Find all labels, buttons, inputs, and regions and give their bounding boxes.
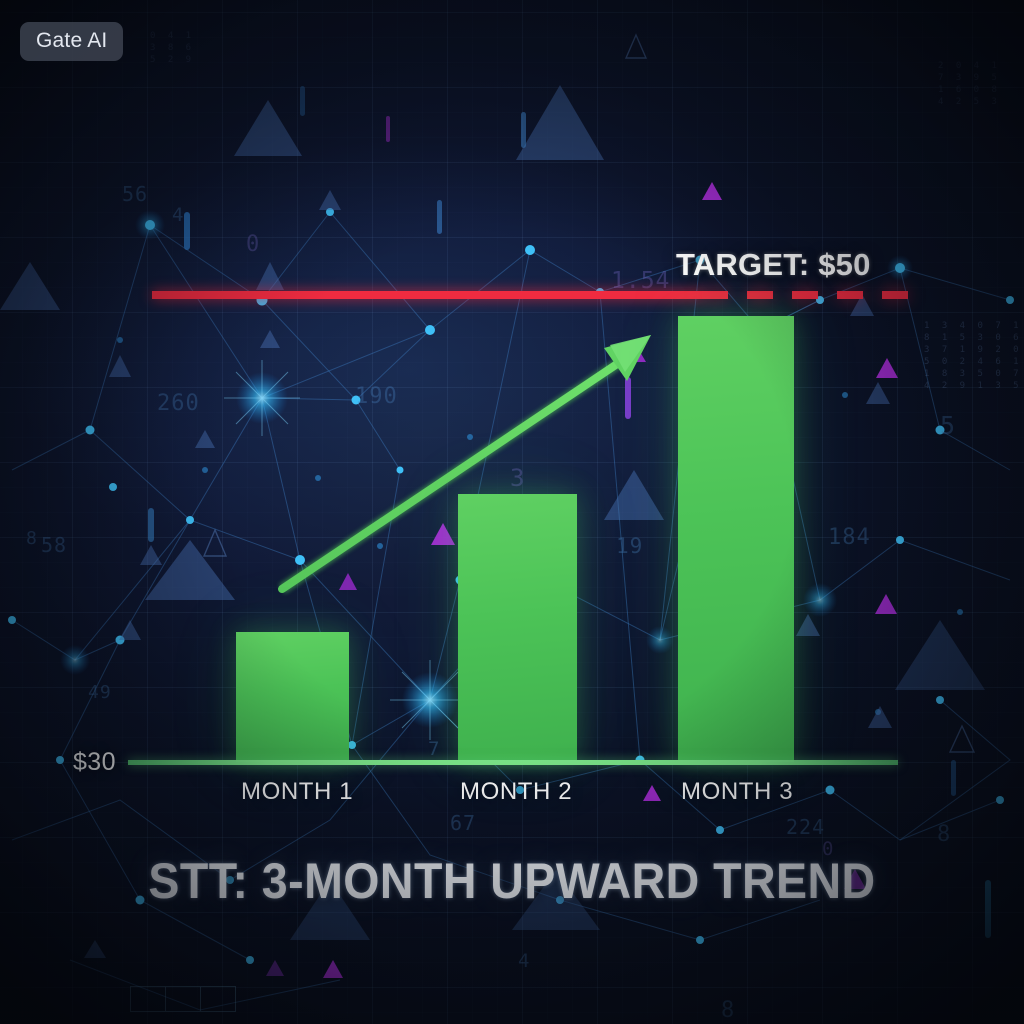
background-data-matrix-2: 2 0 4 1 7 3 9 5 1 6 0 8 4 2 5 3 — [938, 60, 1000, 108]
background-number: 4 — [172, 204, 184, 226]
background-number: 49 — [88, 682, 112, 703]
background-data-matrix-3: 0 4 1 3 8 6 5 2 9 — [150, 30, 195, 66]
bar-month-1 — [236, 632, 349, 762]
background-number: 190 — [355, 384, 398, 409]
background-data-matrix: 1 3 4 0 7 1 2 8 1 5 3 0 6 4 3 7 1 9 2 0 … — [924, 320, 1024, 392]
target-label: TARGET: $50 — [676, 247, 871, 283]
background-number: 224 — [786, 815, 825, 839]
background-number: 56 — [122, 182, 148, 206]
background-number: 58 — [41, 533, 67, 557]
x-axis-label-month-3: MONTH 3 — [681, 778, 793, 806]
chart-title: STT: 3-MONTH UPWARD TREND — [36, 852, 988, 910]
baseline-label: $30 — [73, 748, 116, 777]
background-number: 3 — [510, 464, 525, 492]
chart-canvas: 564026019058491.54319184576722480488 1 3… — [0, 0, 1024, 1024]
background-cell-box — [130, 986, 236, 1012]
watermark-badge: Gate AI — [20, 22, 123, 61]
background-number: 184 — [828, 525, 871, 550]
background-number: 19 — [616, 534, 643, 558]
background-number: 5 — [940, 411, 956, 440]
background-number: 67 — [450, 811, 476, 835]
background-number: 4 — [518, 950, 530, 972]
background-number: 260 — [157, 391, 200, 416]
x-axis-label-month-2: MONTH 2 — [460, 778, 572, 806]
x-axis-label-month-1: MONTH 1 — [241, 778, 353, 806]
background-number: 8 — [937, 822, 951, 847]
background-number: 8 — [721, 998, 735, 1023]
background-number: 7 — [428, 738, 440, 760]
target-line — [152, 291, 912, 299]
background-number: 0 — [246, 232, 260, 257]
baseline-line — [128, 760, 898, 765]
bar-month-3 — [678, 316, 794, 762]
background-number: 8 — [26, 528, 38, 549]
bar-month-2 — [458, 494, 577, 762]
